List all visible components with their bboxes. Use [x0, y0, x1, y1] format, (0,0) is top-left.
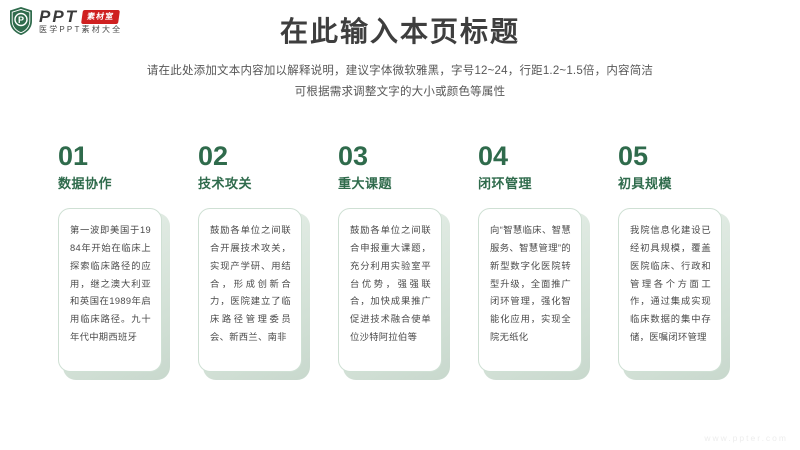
column-03: 03 重大课题 鼓励各单位之间联合申报重大课题，充分利用实验室平台优势，强强联合… [338, 143, 455, 380]
column-heading: 闭环管理 [478, 177, 595, 190]
columns-container: 01 数据协作 第一波即美国于1984年开始在临床上探索临床路径的应用，继之澳大… [58, 143, 758, 380]
content-card: 第一波即美国于1984年开始在临床上探索临床路径的应用，继之澳大利亚和英国在19… [58, 208, 170, 380]
card-text: 鼓励各单位之间联合申报重大课题，充分利用实验室平台优势，强强联合，加快成果推广促… [350, 222, 431, 347]
column-number: 01 [58, 143, 175, 170]
card-text: 向“智慧临床、智慧服务、智慧管理”的新型数字化医院转型升级，全面推广闭环管理，强… [490, 222, 571, 347]
column-heading: 初具规模 [618, 177, 735, 190]
card-body: 我院信息化建设已经初具规模，覆盖医院临床、行政和管理各个方面工作，通过集成实现临… [618, 208, 722, 372]
card-body: 向“智慧临床、智慧服务、智慧管理”的新型数字化医院转型升级，全面推广闭环管理，强… [478, 208, 582, 372]
content-card: 鼓励各单位之间联合开展技术攻关，实现产学研、用结合，形成创新合力，医院建立了临床… [198, 208, 310, 380]
slide-header: 在此输入本页标题 请在此处添加文本内容加以解释说明，建议字体微软雅黑，字号12~… [0, 14, 800, 104]
content-card: 鼓励各单位之间联合申报重大课题，充分利用实验室平台优势，强强联合，加快成果推广促… [338, 208, 450, 380]
column-number: 04 [478, 143, 595, 170]
page-subtitle-line-1: 请在此处添加文本内容加以解释说明，建议字体微软雅黑，字号12~24，行距1.2~… [80, 61, 720, 82]
footer-watermark: www.ppter.com [704, 433, 788, 443]
column-number: 05 [618, 143, 735, 170]
card-body: 鼓励各单位之间联合申报重大课题，充分利用实验室平台优势，强强联合，加快成果推广促… [338, 208, 442, 372]
card-text: 第一波即美国于1984年开始在临床上探索临床路径的应用，继之澳大利亚和英国在19… [70, 222, 151, 347]
column-number: 02 [198, 143, 315, 170]
card-body: 第一波即美国于1984年开始在临床上探索临床路径的应用，继之澳大利亚和英国在19… [58, 208, 162, 372]
card-text: 鼓励各单位之间联合开展技术攻关，实现产学研、用结合，形成创新合力，医院建立了临床… [210, 222, 291, 347]
card-text: 我院信息化建设已经初具规模，覆盖医院临床、行政和管理各个方面工作，通过集成实现临… [630, 222, 711, 347]
column-heading: 数据协作 [58, 177, 175, 190]
column-01: 01 数据协作 第一波即美国于1984年开始在临床上探索临床路径的应用，继之澳大… [58, 143, 175, 380]
page-subtitle-line-2: 可根据需求调整文字的大小或颜色等属性 [80, 82, 720, 103]
column-heading: 重大课题 [338, 177, 455, 190]
content-card: 向“智慧临床、智慧服务、智慧管理”的新型数字化医院转型升级，全面推广闭环管理，强… [478, 208, 590, 380]
column-heading: 技术攻关 [198, 177, 315, 190]
column-04: 04 闭环管理 向“智慧临床、智慧服务、智慧管理”的新型数字化医院转型升级，全面… [478, 143, 595, 380]
column-02: 02 技术攻关 鼓励各单位之间联合开展技术攻关，实现产学研、用结合，形成创新合力… [198, 143, 315, 380]
content-card: 我院信息化建设已经初具规模，覆盖医院临床、行政和管理各个方面工作，通过集成实现临… [618, 208, 730, 380]
page-title: 在此输入本页标题 [0, 14, 800, 49]
card-body: 鼓励各单位之间联合开展技术攻关，实现产学研、用结合，形成创新合力，医院建立了临床… [198, 208, 302, 372]
column-number: 03 [338, 143, 455, 170]
page-subtitle: 请在此处添加文本内容加以解释说明，建议字体微软雅黑，字号12~24，行距1.2~… [80, 61, 720, 104]
column-05: 05 初具规模 我院信息化建设已经初具规模，覆盖医院临床、行政和管理各个方面工作… [618, 143, 735, 380]
